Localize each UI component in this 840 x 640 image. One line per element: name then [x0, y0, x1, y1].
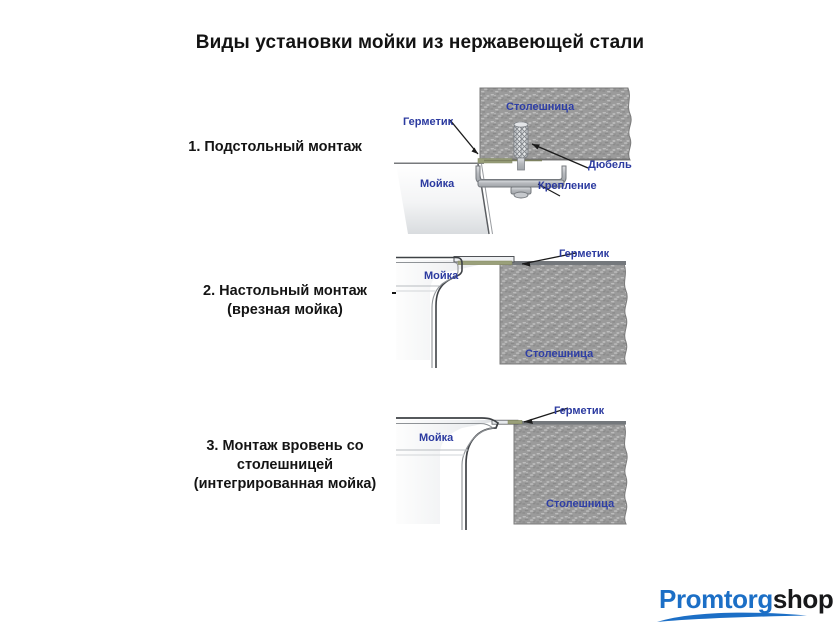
section-caption-3: 3. Монтаж вровень со столешницей (интегр… [155, 437, 415, 494]
sink-bowl-1 [396, 164, 488, 234]
label-dowel-1: Дюбель [588, 159, 632, 171]
section-caption-2: 2. Настольный монтаж (врезная мойка) [160, 282, 410, 320]
sealant-bead-2 [458, 261, 512, 265]
sealant-bead-3 [508, 420, 522, 423]
dowel-1 [514, 124, 528, 158]
countertop-slab-1 [480, 88, 631, 160]
logo-swoosh-icon [655, 611, 815, 623]
label-sealant-2: Герметик [559, 248, 609, 260]
section-caption-1: 1. Подстольный монтаж [150, 138, 400, 157]
label-sealant-1: Герметик [403, 116, 453, 128]
diagram-flushmount [396, 398, 648, 534]
label-countertop-2: Столешница [525, 348, 593, 360]
label-sink-2: Мойка [424, 270, 458, 282]
logo[interactable]: Promtorgshop [659, 586, 833, 612]
logo-brand-text: Promtorg [659, 584, 773, 614]
page-title: Виды установки мойки из нержавеющей стал… [0, 32, 840, 54]
diagram-page: Виды установки мойки из нержавеющей стал… [0, 0, 840, 640]
label-bracket-1: Крепление [538, 180, 597, 192]
label-sink-1: Мойка [420, 178, 454, 190]
label-countertop-1: Столешница [506, 101, 574, 113]
logo-suffix-text: shop [773, 584, 834, 614]
diagram-topmount [396, 240, 648, 380]
label-sink-3: Мойка [419, 432, 453, 444]
label-sealant-3: Герметик [554, 405, 604, 417]
label-countertop-3: Столешница [546, 498, 614, 510]
